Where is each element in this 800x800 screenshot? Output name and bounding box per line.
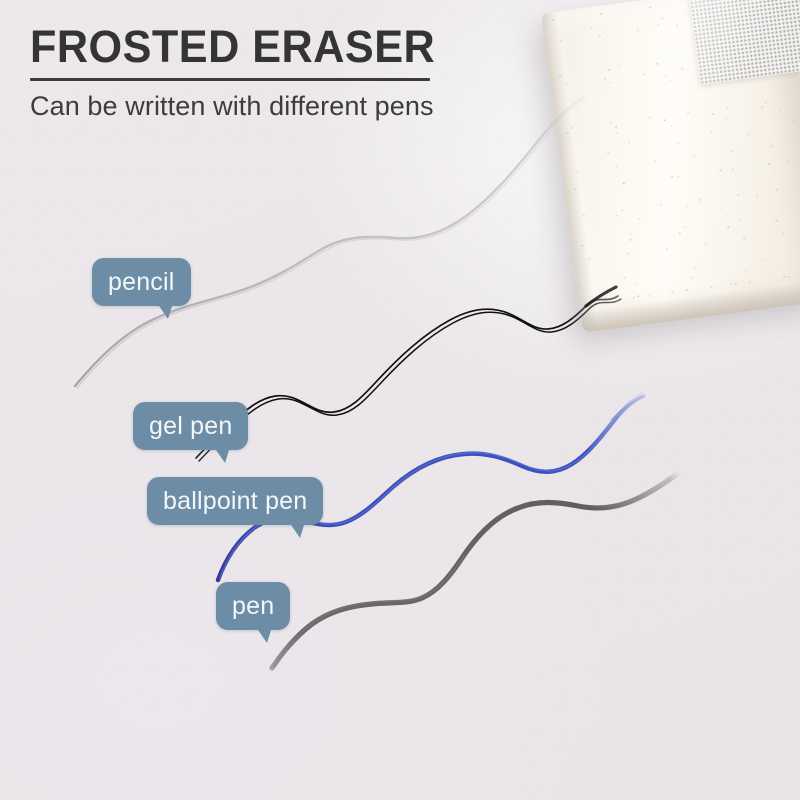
callout-pencil: pencil [92,258,191,306]
header-block: FROSTED ERASER Can be written with diffe… [30,24,550,122]
callout-tail-icon [289,522,305,538]
callout-tail-icon [157,303,173,319]
pencil-stroke [75,97,586,388]
pen-stroke [272,472,680,668]
product-marketing-image: FROSTED ERASER Can be written with diffe… [0,0,800,800]
callout-ballpoint-pen-label: ballpoint pen [163,487,307,516]
page-subtitle: Can be written with different pens [30,91,550,122]
callout-pen: pen [216,582,290,630]
callout-gel-pen: gel pen [133,402,248,450]
callout-pen-label: pen [232,592,274,621]
callout-tail-icon [214,447,230,463]
callout-tail-icon [256,627,272,643]
title-underline-rule [30,78,430,81]
page-title: FROSTED ERASER [30,24,529,71]
callout-gel-pen-label: gel pen [149,412,232,441]
callout-ballpoint-pen: ballpoint pen [147,477,323,525]
gel-pen-stroke [196,287,621,461]
callout-pencil-label: pencil [108,268,175,297]
